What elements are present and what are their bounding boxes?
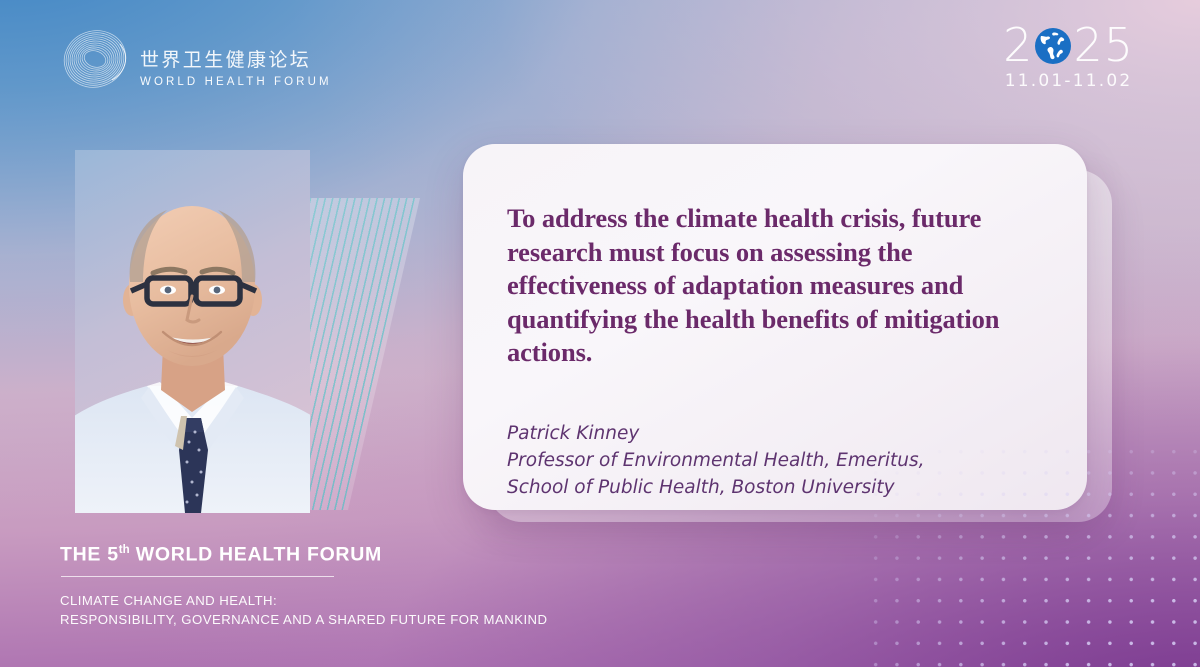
forum-name-en: WORLD HEALTH FORUM [140, 76, 316, 88]
event-title-suffix: WORLD HEALTH FORUM [130, 543, 382, 565]
event-date-block: 2 25 11.01-11.02 [1003, 22, 1134, 91]
event-subtitle-line-1: CLIMATE CHANGE AND HEALTH: [60, 591, 620, 610]
event-quote-poster: 世界卫生健康论坛 WORLD HEALTH FORUM 2 25 [0, 0, 1200, 667]
forum-name-cn: 世界卫生健康论坛 [140, 50, 316, 71]
quote-text: To address the climate health crisis, fu… [507, 202, 1035, 370]
event-date-range: 11.01-11.02 [1003, 71, 1134, 91]
event-title: THE 5th WORLD HEALTH FORUM [60, 538, 620, 567]
world-health-forum-ring-logo-icon [56, 24, 134, 94]
globe-icon [1034, 27, 1072, 65]
event-title-prefix: THE 5 [60, 543, 119, 565]
year-digit-first: 2 [1003, 22, 1033, 68]
event-title-ordinal: th [119, 544, 130, 556]
event-year: 2 25 [1003, 22, 1134, 68]
speaker-attribution: Patrick Kinney Professor of Environmenta… [507, 420, 1035, 501]
speaker-title-line-1: Professor of Environmental Health, Emeri… [507, 447, 1035, 474]
speaker-name: Patrick Kinney [507, 420, 1035, 447]
speaker-portrait [75, 150, 310, 513]
forum-logo[interactable]: 世界卫生健康论坛 WORLD HEALTH FORUM [56, 24, 316, 100]
year-digits-last: 25 [1073, 22, 1134, 68]
footer: THE 5th WORLD HEALTH FORUM CLIMATE CHANG… [60, 538, 620, 630]
speaker-title-line-2: School of Public Health, Boston Universi… [507, 474, 1035, 501]
footer-divider [61, 576, 334, 577]
quote-card: To address the climate health crisis, fu… [463, 144, 1087, 510]
event-subtitle-line-2: RESPONSIBILITY, GOVERNANCE AND A SHARED … [60, 610, 620, 629]
forum-logo-text: 世界卫生健康论坛 WORLD HEALTH FORUM [140, 50, 316, 88]
